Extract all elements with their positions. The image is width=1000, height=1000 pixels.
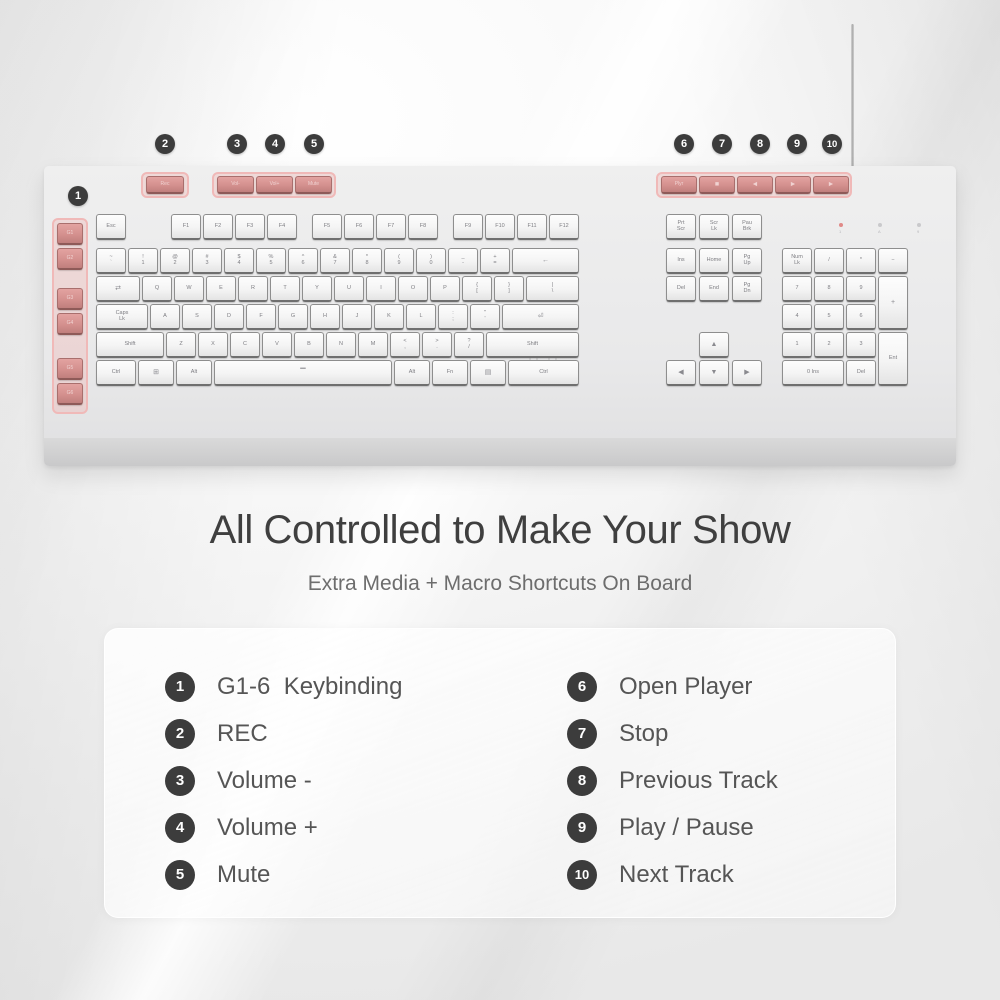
key-scroll-lock[interactable]: Scr Lk <box>699 214 729 240</box>
key-numpad-subtract[interactable]: − <box>878 248 908 274</box>
key-esc[interactable]: Esc <box>96 214 126 240</box>
key-f12[interactable]: F12 <box>549 214 579 240</box>
legend-label-5: Mute <box>217 861 270 889</box>
key-c[interactable]: C <box>230 332 260 358</box>
macro-key-g5[interactable]: G5 <box>57 358 83 380</box>
legend-label-8: Previous Track <box>619 767 778 795</box>
legend-number-7: 7 <box>567 719 597 749</box>
key-d[interactable]: D <box>214 304 244 330</box>
legend-number-4: 4 <box>165 813 195 843</box>
key-i[interactable]: I <box>366 276 396 302</box>
key-7[interactable]: & 7 <box>320 248 350 274</box>
key-8[interactable]: * 8 <box>352 248 382 274</box>
key-windows-left[interactable]: ⊞ <box>138 360 174 386</box>
macro-key-g4[interactable]: G4 <box>57 313 83 335</box>
callout-badge-9: 9 <box>787 134 807 154</box>
key-numpad-9[interactable]: 9 <box>846 276 876 302</box>
legend-number-2: 2 <box>165 719 195 749</box>
led-num-lock <box>839 223 843 227</box>
usb-cable <box>851 24 854 174</box>
next-track-key[interactable]: ► <box>813 176 849 194</box>
legend-label-6: Open Player <box>619 673 752 701</box>
key-v[interactable]: V <box>262 332 292 358</box>
led-caps-lock <box>878 223 882 227</box>
key-y[interactable]: Y <box>302 276 332 302</box>
key-f1[interactable]: F1 <box>171 214 201 240</box>
rec-key[interactable]: Rec <box>146 176 184 194</box>
callout-badge-6: 6 <box>674 134 694 154</box>
legend-item-2: 2 REC <box>165 710 402 757</box>
stop-key[interactable]: ■ <box>699 176 735 194</box>
key-backslash[interactable]: | \ <box>526 276 579 302</box>
macro-key-g2[interactable]: G2 <box>57 248 83 270</box>
key-p[interactable]: P <box>430 276 460 302</box>
keyboard-product-image: G1 G2 G3 G4 G5 G6 Rec Vol- Vol+ Mute Ply… <box>44 166 956 466</box>
key-j[interactable]: J <box>342 304 372 330</box>
legend-number-3: 3 <box>165 766 195 796</box>
callout-badge-3: 3 <box>227 134 247 154</box>
key-5[interactable]: % 5 <box>256 248 286 274</box>
key-numpad-5[interactable]: 5 <box>814 304 844 330</box>
key-w[interactable]: W <box>174 276 204 302</box>
key-alt-right[interactable]: Alt <box>394 360 430 386</box>
key-numpad-decimal[interactable]: Del <box>846 360 876 386</box>
key-backspace[interactable]: ← <box>512 248 579 274</box>
key-f8[interactable]: F8 <box>408 214 438 240</box>
key-numpad-multiply[interactable]: * <box>846 248 876 274</box>
key-tab[interactable]: ⇄ <box>96 276 140 302</box>
key-delete[interactable]: Del <box>666 276 696 302</box>
previous-track-key[interactable]: ◄ <box>737 176 773 194</box>
key-0[interactable]: ) 0 <box>416 248 446 274</box>
key-numpad-2[interactable]: 2 <box>814 332 844 358</box>
key-n[interactable]: N <box>326 332 356 358</box>
legend-number-9: 9 <box>567 813 597 843</box>
key-caps-lock[interactable]: Caps Lk <box>96 304 148 330</box>
key-f2[interactable]: F2 <box>203 214 233 240</box>
key-arrow-down[interactable]: ▼ <box>699 360 729 386</box>
macro-key-g1[interactable]: G1 <box>57 223 83 245</box>
legend-item-8: 8 Previous Track <box>567 757 778 804</box>
open-player-key[interactable]: Plyr <box>661 176 697 194</box>
key-pause-break[interactable]: Pau Brk <box>732 214 762 240</box>
key-numpad-1[interactable]: 1 <box>782 332 812 358</box>
callout-badge-2: 2 <box>155 134 175 154</box>
key-m[interactable]: M <box>358 332 388 358</box>
key-menu[interactable]: ▤ <box>470 360 506 386</box>
legend-item-3: 3 Volume - <box>165 757 402 804</box>
key-e[interactable]: E <box>206 276 236 302</box>
key-a[interactable]: A <box>150 304 180 330</box>
callout-badge-5: 5 <box>304 134 324 154</box>
key-semicolon[interactable]: : ; <box>438 304 468 330</box>
key-f[interactable]: F <box>246 304 276 330</box>
key-fn[interactable]: Fn <box>432 360 468 386</box>
mute-key[interactable]: Mute <box>295 176 332 194</box>
legend-item-5: 5 Mute <box>165 851 402 898</box>
key-b[interactable]: B <box>294 332 324 358</box>
key-numpad-8[interactable]: 8 <box>814 276 844 302</box>
legend-label-9: Play / Pause <box>619 814 754 842</box>
key-f10[interactable]: F10 <box>485 214 515 240</box>
legend-label-7: Stop <box>619 720 668 748</box>
key-comma[interactable]: < , <box>390 332 420 358</box>
led-label-num: 1 <box>839 229 841 234</box>
key-s[interactable]: S <box>182 304 212 330</box>
key-arrow-right[interactable]: ▶ <box>732 360 762 386</box>
key-f11[interactable]: F11 <box>517 214 547 240</box>
key-u[interactable]: U <box>334 276 364 302</box>
key-print-screen[interactable]: Prt Scr <box>666 214 696 240</box>
callout-badge-10: 10 <box>822 134 842 154</box>
macro-key-g6[interactable]: G6 <box>57 383 83 405</box>
legend-item-9: 9 Play / Pause <box>567 804 778 851</box>
key-shift-left[interactable]: Shift <box>96 332 164 358</box>
key-4[interactable]: $ 4 <box>224 248 254 274</box>
key-2[interactable]: @ 2 <box>160 248 190 274</box>
key-f3[interactable]: F3 <box>235 214 265 240</box>
key-h[interactable]: H <box>310 304 340 330</box>
legend-label-2: REC <box>217 720 268 748</box>
callout-badge-8: 8 <box>750 134 770 154</box>
key-insert[interactable]: Ins <box>666 248 696 274</box>
legend-label-4: Volume + <box>217 814 318 842</box>
page-headline: All Controlled to Make Your Show <box>0 508 1000 553</box>
key-alt-left[interactable]: Alt <box>176 360 212 386</box>
legend-item-1: 1 G1-6 Keybinding <box>165 663 402 710</box>
key-numpad-7[interactable]: 7 <box>782 276 812 302</box>
volume-down-key[interactable]: Vol- <box>217 176 254 194</box>
legend-number-5: 5 <box>165 860 195 890</box>
key-numpad-divide[interactable]: / <box>814 248 844 274</box>
key-quote[interactable]: " ' <box>470 304 500 330</box>
legend-number-6: 6 <box>567 672 597 702</box>
key-home[interactable]: Home <box>699 248 729 274</box>
key-3[interactable]: # 3 <box>192 248 222 274</box>
volume-up-key[interactable]: Vol+ <box>256 176 293 194</box>
legend-item-6: 6 Open Player <box>567 663 778 710</box>
key-numpad-3[interactable]: 3 <box>846 332 876 358</box>
key-backtick[interactable]: ~ ` <box>96 248 126 274</box>
key-f5[interactable]: F5 <box>312 214 342 240</box>
legend-item-7: 7 Stop <box>567 710 778 757</box>
legend-item-4: 4 Volume + <box>165 804 402 851</box>
key-f4[interactable]: F4 <box>267 214 297 240</box>
key-f6[interactable]: F6 <box>344 214 374 240</box>
key-arrow-left[interactable]: ◀ <box>666 360 696 386</box>
key-numpad-add[interactable]: + <box>878 276 908 330</box>
key-bracket-left[interactable]: { [ <box>462 276 492 302</box>
callout-badge-7: 7 <box>712 134 732 154</box>
legend-card: 1 G1-6 Keybinding 2 REC 3 Volume - 4 Vol… <box>104 628 896 918</box>
key-k[interactable]: K <box>374 304 404 330</box>
legend-number-1: 1 <box>165 672 195 702</box>
key-f7[interactable]: F7 <box>376 214 406 240</box>
key-9[interactable]: ( 9 <box>384 248 414 274</box>
key-numpad-0[interactable]: 0 Ins <box>782 360 844 386</box>
key-space[interactable]: ▔ <box>214 360 392 386</box>
key-equals[interactable]: + = <box>480 248 510 274</box>
key-numpad-enter[interactable]: Ent <box>878 332 908 386</box>
key-enter[interactable]: ⏎ <box>502 304 579 330</box>
key-period[interactable]: > . <box>422 332 452 358</box>
key-1[interactable]: ! 1 <box>128 248 158 274</box>
key-slash[interactable]: ? / <box>454 332 484 358</box>
legend-label-10: Next Track <box>619 861 734 889</box>
legend-item-10: 10 Next Track <box>567 851 778 898</box>
key-x[interactable]: X <box>198 332 228 358</box>
key-l[interactable]: L <box>406 304 436 330</box>
key-shift-right[interactable]: Shift <box>486 332 579 358</box>
key-f9[interactable]: F9 <box>453 214 483 240</box>
callout-badge-4: 4 <box>265 134 285 154</box>
legend-label-3: Volume - <box>217 767 312 795</box>
key-o[interactable]: O <box>398 276 428 302</box>
key-ctrl-left[interactable]: Ctrl <box>96 360 136 386</box>
legend-column-left: 1 G1-6 Keybinding 2 REC 3 Volume - 4 Vol… <box>165 663 402 898</box>
key-g[interactable]: G <box>278 304 308 330</box>
key-6[interactable]: ^ 6 <box>288 248 318 274</box>
key-q[interactable]: Q <box>142 276 172 302</box>
key-r[interactable]: R <box>238 276 268 302</box>
key-minus[interactable]: _ - <box>448 248 478 274</box>
page-subheadline: Extra Media + Macro Shortcuts On Board <box>0 572 1000 596</box>
play-pause-key[interactable]: ► <box>775 176 811 194</box>
legend-column-right: 6 Open Player 7 Stop 8 Previous Track 9 … <box>567 663 778 898</box>
legend-number-10: 10 <box>567 860 597 890</box>
led-scroll-lock <box>917 223 921 227</box>
key-numpad-6[interactable]: 6 <box>846 304 876 330</box>
led-label-scroll: 9 <box>917 229 919 234</box>
key-t[interactable]: T <box>270 276 300 302</box>
key-num-lock[interactable]: Num Lk <box>782 248 812 274</box>
key-page-down[interactable]: Pg Dn <box>732 276 762 302</box>
legend-label-1: G1-6 Keybinding <box>217 673 402 701</box>
key-page-up[interactable]: Pg Up <box>732 248 762 274</box>
key-numpad-4[interactable]: 4 <box>782 304 812 330</box>
callout-badge-1: 1 <box>68 186 88 206</box>
key-arrow-up[interactable]: ▲ <box>699 332 729 358</box>
key-end[interactable]: End <box>699 276 729 302</box>
key-bracket-right[interactable]: } ] <box>494 276 524 302</box>
key-ctrl-right[interactable]: Ctrl <box>508 360 579 386</box>
legend-number-8: 8 <box>567 766 597 796</box>
key-z[interactable]: Z <box>166 332 196 358</box>
macro-key-g3[interactable]: G3 <box>57 288 83 310</box>
led-label-caps: A <box>878 229 881 234</box>
keyboard-top-plate <box>44 166 956 438</box>
